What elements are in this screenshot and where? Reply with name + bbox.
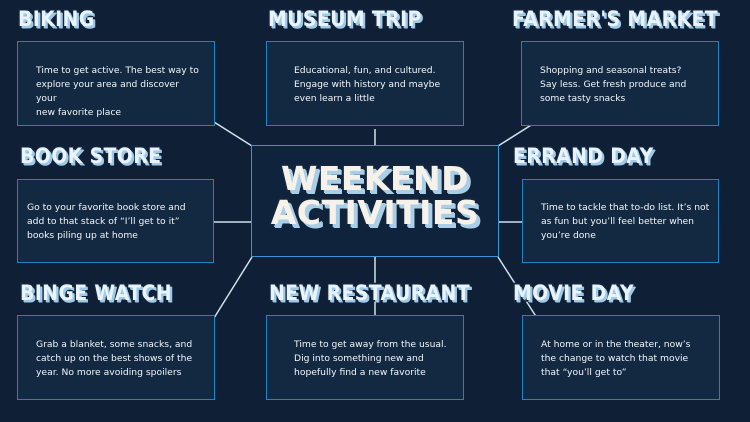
node-body-binge-watch: Grab a blanket, some snacks, and catch u… (36, 338, 204, 380)
node-heading-book-store: BOOK STORE (20, 146, 161, 167)
node-heading-binge-watch: BINGE WATCH (20, 283, 172, 304)
node-heading-movie-day: MOVIE DAY (513, 283, 634, 304)
node-body-movie-day: At home or in the theater, now’s the cha… (541, 338, 709, 380)
node-card-biking: Time to get active. The best way to expl… (17, 41, 215, 126)
center-node-title: WEEKEND ACTIVITIES (251, 162, 499, 230)
node-card-book-store: Go to your favorite book store and add t… (17, 179, 214, 263)
node-body-biking: Time to get active. The best way to expl… (36, 64, 201, 120)
node-card-farmers-market: Shopping and seasonal treats? Say less. … (521, 41, 719, 126)
node-card-museum-trip: Educational, fun, and cultured. Engage w… (266, 41, 464, 126)
mind-map-diagram: BIKING Time to get active. The best way … (0, 0, 750, 422)
node-heading-errand-day: ERRAND DAY (513, 146, 654, 167)
node-heading-biking: BIKING (18, 9, 95, 30)
node-card-errand-day: Time to tackle that to-do list. It’s not… (522, 179, 719, 263)
node-body-book-store: Go to your favorite book store and add t… (27, 201, 207, 243)
node-card-movie-day: At home or in the theater, now’s the cha… (522, 315, 720, 400)
center-title-line-2: ACTIVITIES (251, 196, 499, 230)
node-card-new-restaurant: Time to get away from the usual. Dig int… (266, 315, 464, 400)
node-body-errand-day: Time to tackle that to-do list. It’s not… (541, 201, 713, 243)
node-heading-museum-trip: MUSEUM TRIP (268, 9, 422, 30)
node-card-binge-watch: Grab a blanket, some snacks, and catch u… (17, 315, 215, 400)
node-heading-new-restaurant: NEW RESTAURANT (269, 283, 470, 304)
node-body-farmers-market: Shopping and seasonal treats? Say less. … (540, 64, 708, 106)
node-body-new-restaurant: Time to get away from the usual. Dig int… (294, 338, 459, 380)
node-body-museum-trip: Educational, fun, and cultured. Engage w… (294, 64, 459, 106)
node-heading-farmers-market: FARMER'S MARKET (512, 9, 718, 30)
